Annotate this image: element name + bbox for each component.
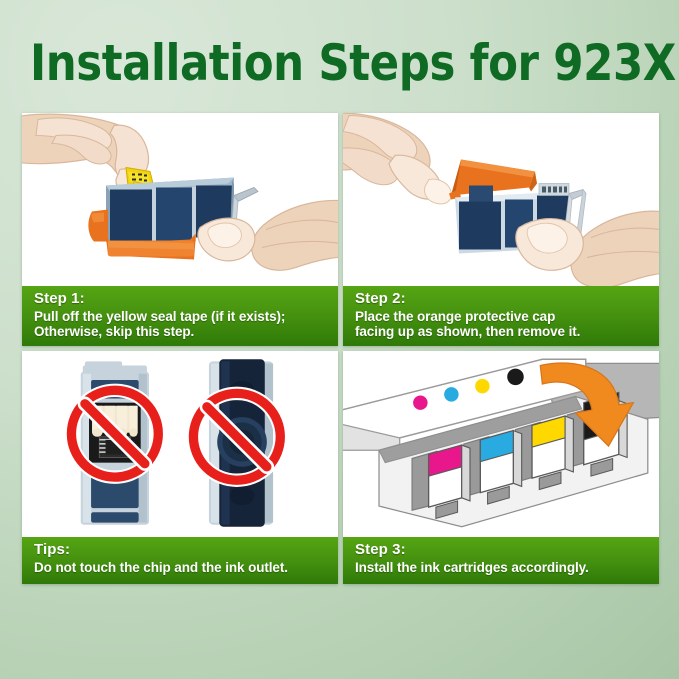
step-3-card: Step 3: Install the ink cartridges accor… [343, 351, 659, 584]
step-2-illustration [343, 113, 659, 286]
page-title: Installation Steps for 923XL(923e) [30, 34, 679, 92]
step-1-line-2: Otherwise, skip this step. [34, 324, 328, 339]
indicator-cyan [444, 387, 458, 401]
step-2-card: Step 2: Place the orange protective cap … [343, 113, 659, 346]
tips-illustration [22, 351, 338, 537]
indicator-yellow [475, 379, 489, 393]
step-3-caption: Step 3: Install the ink cartridges accor… [343, 537, 659, 584]
installation-guide-page: Installation Steps for 923XL(923e) [0, 0, 679, 679]
step-3-illustration [343, 351, 659, 537]
indicator-black [507, 369, 524, 386]
step-2-caption: Step 2: Place the orange protective cap … [343, 286, 659, 346]
step-3-line-1: Install the ink cartridges accordingly. [355, 560, 649, 575]
do-not-touch-chip-and-outlet-graphic [22, 351, 338, 537]
page-title-container: Installation Steps for 923XL(923e) [30, 33, 650, 93]
step-3-title: Step 3: [355, 542, 649, 559]
tips-title: Tips: [34, 542, 328, 559]
hand-removing-orange-cap-graphic [343, 113, 659, 286]
chip [539, 183, 569, 195]
printer-carriage-graphic [343, 351, 659, 537]
step-2-title: Step 2: [355, 291, 649, 308]
step-1-line-1: Pull off the yellow seal tape (if it exi… [34, 309, 328, 324]
tips-line-1: Do not touch the chip and the ink outlet… [34, 560, 328, 575]
hand-pulling-seal-tape-graphic [22, 113, 338, 286]
step-1-card: Step 1: Pull off the yellow seal tape (i… [22, 113, 338, 346]
indicator-magenta [413, 395, 427, 409]
step-2-line-1: Place the orange protective cap [355, 309, 649, 324]
step-1-title: Step 1: [34, 291, 328, 308]
tips-caption: Tips: Do not touch the chip and the ink … [22, 537, 338, 584]
steps-grid: Step 1: Pull off the yellow seal tape (i… [22, 113, 659, 613]
step-2-line-2: facing up as shown, then remove it. [355, 324, 649, 339]
step-1-caption: Step 1: Pull off the yellow seal tape (i… [22, 286, 338, 346]
tips-card: Tips: Do not touch the chip and the ink … [22, 351, 338, 584]
step-1-illustration [22, 113, 338, 286]
